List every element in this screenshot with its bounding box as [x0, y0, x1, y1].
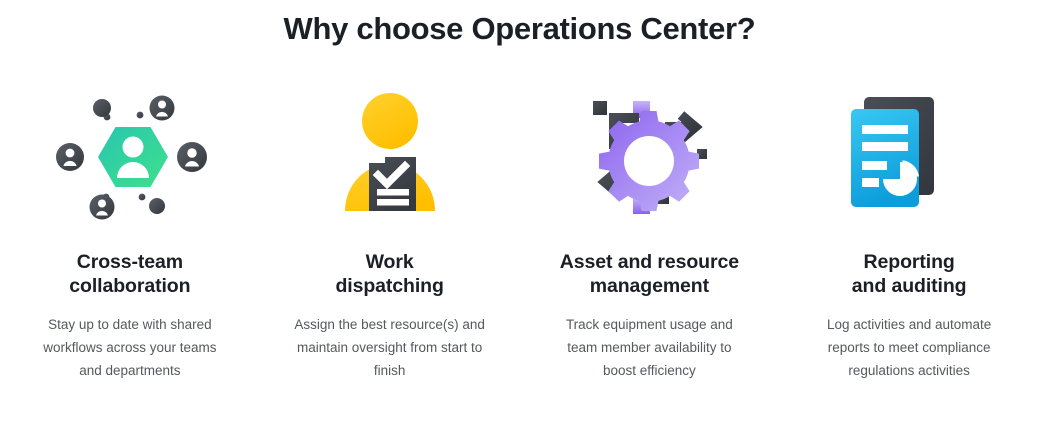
feature-title: Cross-team collaboration — [69, 250, 190, 299]
feature-card-cross-team-collaboration: Cross-team collaboration Stay up to date… — [0, 87, 260, 382]
feature-title: Work dispatching — [335, 250, 443, 299]
feature-highlights-section: Why choose Operations Center? — [0, 0, 1039, 437]
feature-card-asset-resource-management: Asset and resource management Track equi… — [520, 87, 780, 382]
feature-title-line2: collaboration — [69, 275, 190, 297]
feature-title-line2: management — [590, 275, 709, 297]
report-documents-icon — [829, 87, 989, 222]
gear-arrows-icon — [569, 87, 729, 222]
feature-title-line2: dispatching — [335, 275, 443, 297]
feature-title-line1: Cross-team — [77, 251, 183, 273]
feature-title-line1: Asset and resource — [560, 251, 739, 273]
feature-description: Assign the best resource(s) and maintain… — [292, 313, 487, 383]
feature-title: Reporting and auditing — [852, 250, 967, 299]
feature-description: Log activities and automate reports to m… — [809, 313, 1009, 383]
feature-card-reporting-auditing: Reporting and auditing Log activities an… — [779, 87, 1039, 382]
feature-title-line1: Reporting — [864, 251, 955, 273]
features-row: Cross-team collaboration Stay up to date… — [0, 87, 1039, 382]
feature-description: Track equipment usage and team member av… — [549, 313, 749, 383]
feature-card-work-dispatching: Work dispatching Assign the best resourc… — [260, 87, 520, 382]
feature-description: Stay up to date with shared workflows ac… — [32, 313, 227, 383]
page-title: Why choose Operations Center? — [0, 0, 1039, 49]
feature-title: Asset and resource management — [560, 250, 739, 299]
feature-title-line2: and auditing — [852, 275, 967, 297]
person-clipboard-icon — [310, 87, 470, 222]
network-collaboration-icon — [50, 87, 210, 222]
feature-title-line1: Work — [366, 251, 414, 273]
